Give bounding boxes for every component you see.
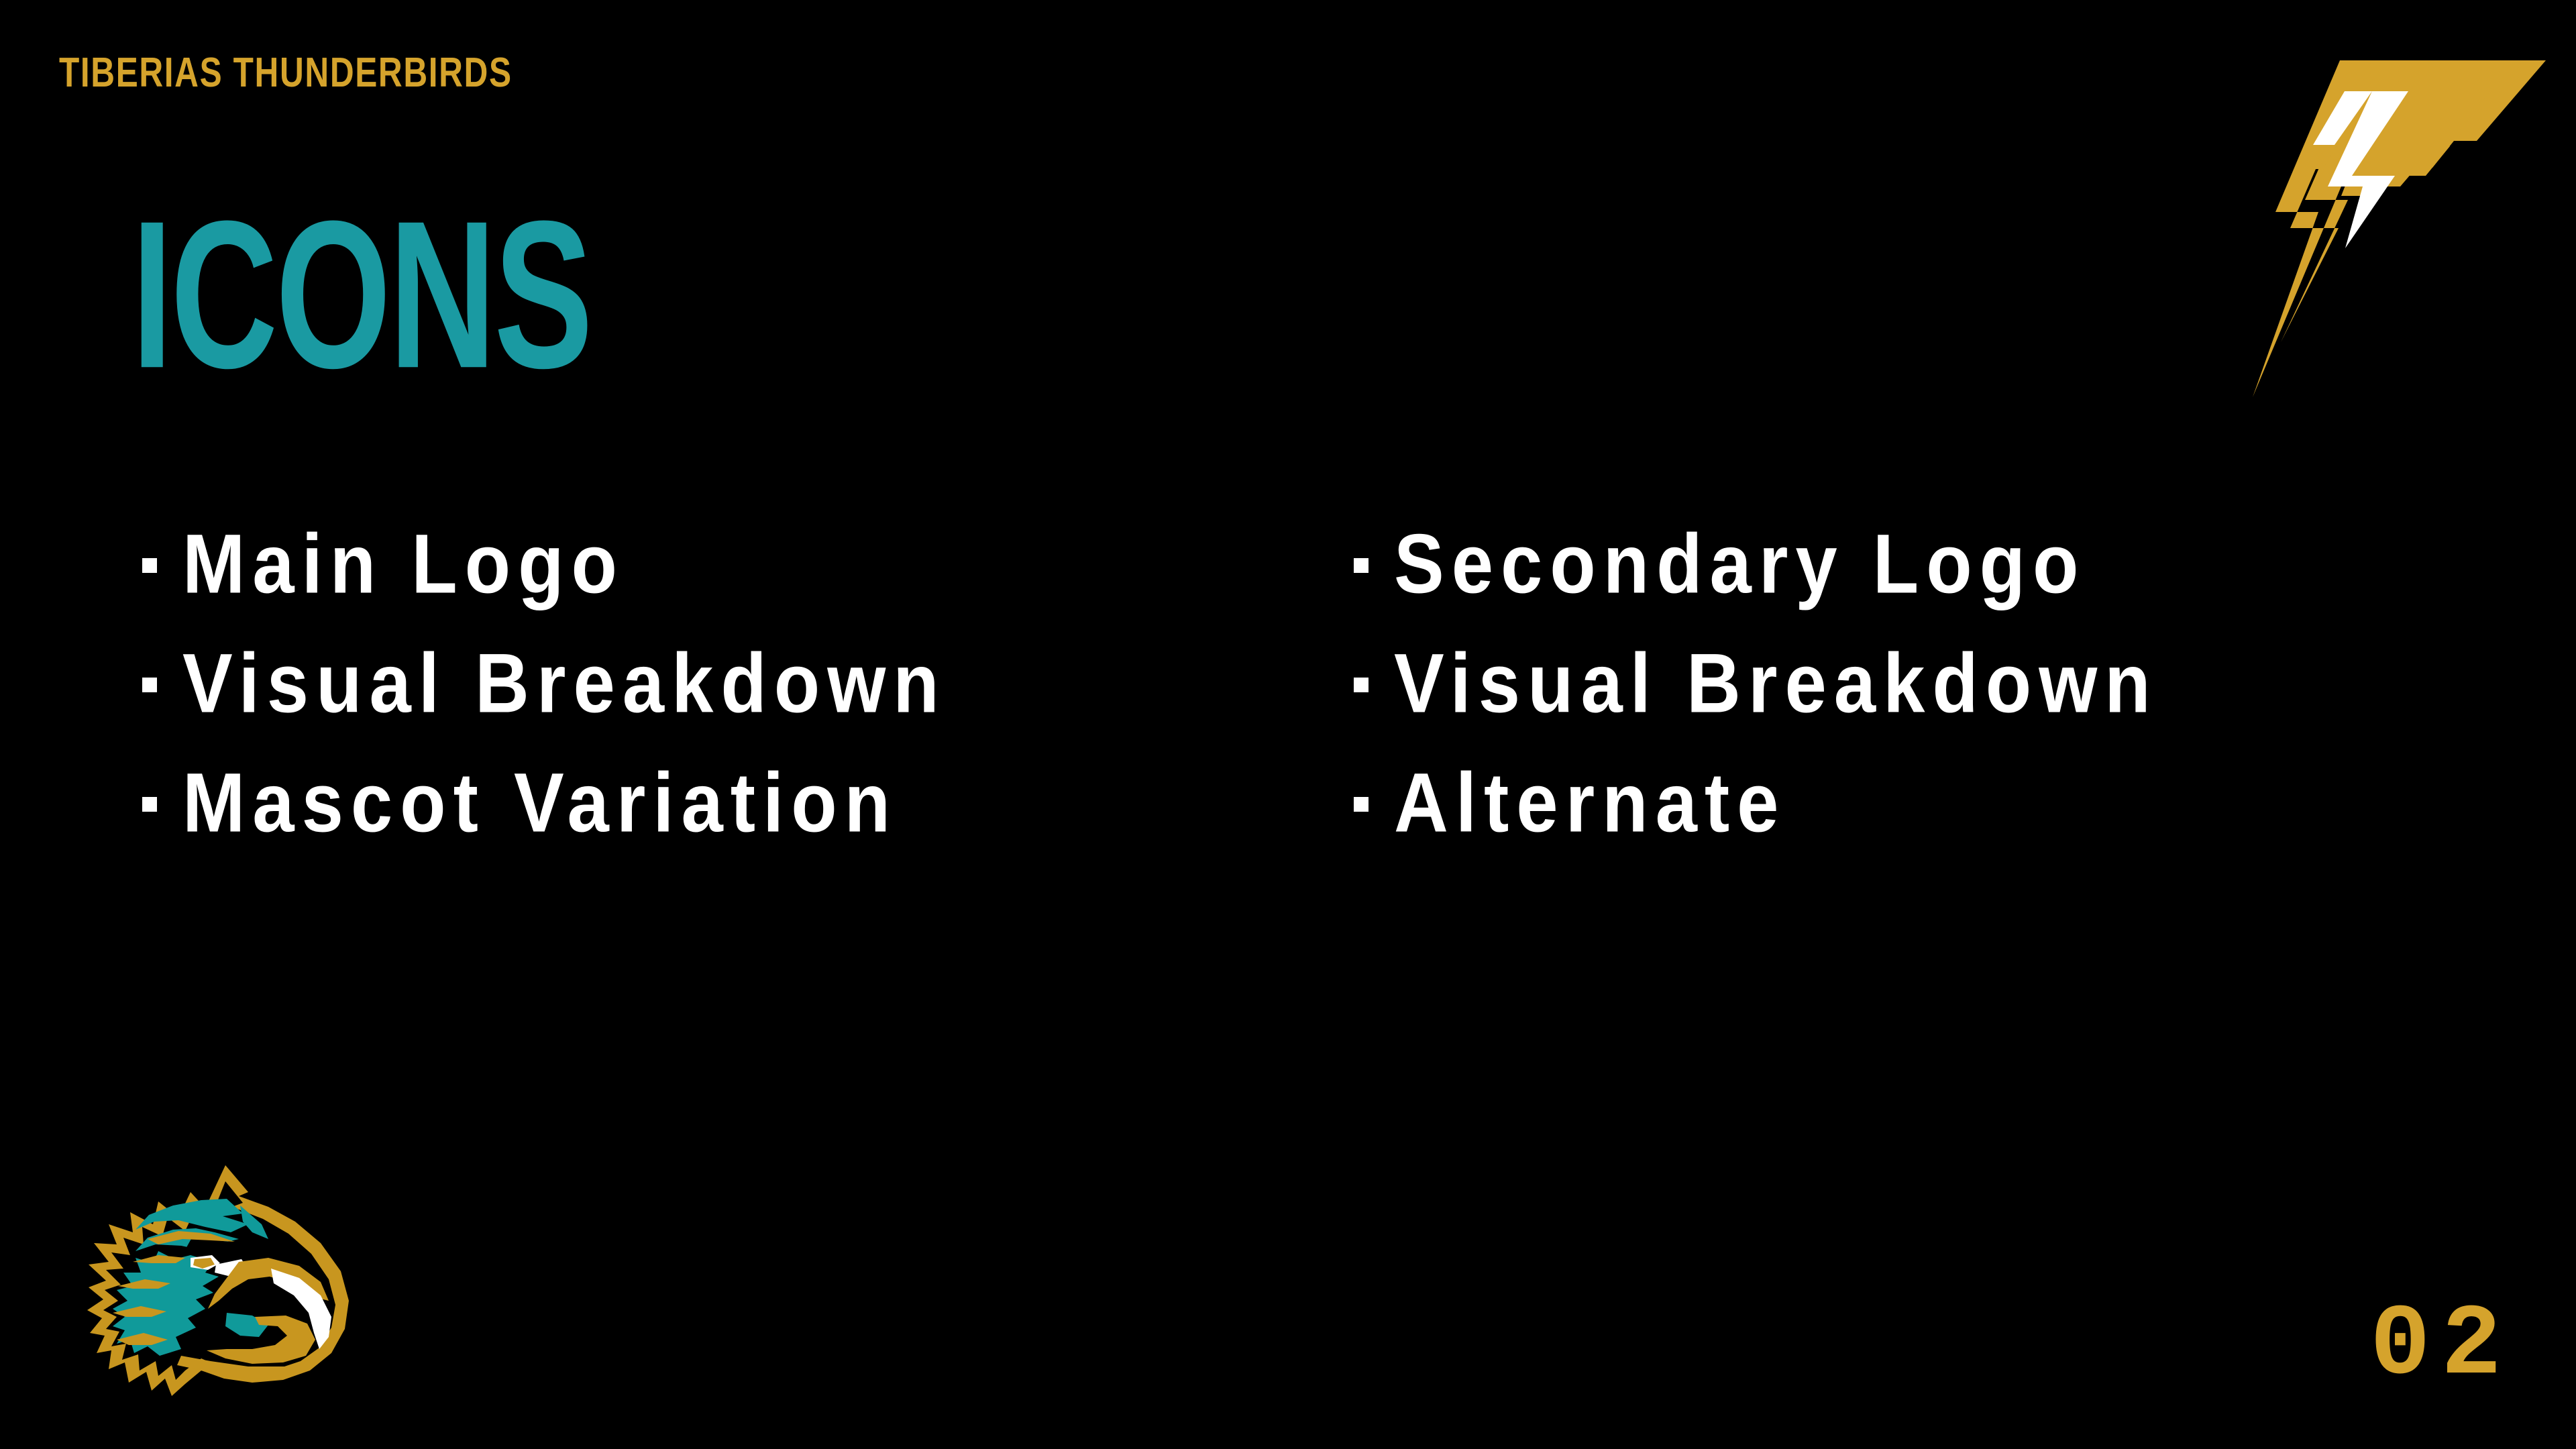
bullet-square-icon (1354, 797, 1368, 812)
list-item-label: Mascot Variation (182, 761, 898, 845)
list-item[interactable]: Visual Breakdown (1354, 624, 2158, 743)
list-item-label: Main Logo (182, 522, 625, 606)
brand-eyebrow: TIBERIAS THUNDERBIRDS (59, 52, 513, 94)
bullet-square-icon (1354, 558, 1368, 573)
list-item-label: Secondary Logo (1394, 522, 2086, 606)
list-item[interactable]: Main Logo (142, 504, 947, 624)
list-item[interactable]: Alternate (1354, 743, 2158, 863)
list-item[interactable]: Mascot Variation (142, 743, 947, 863)
page-title: ICONS (131, 196, 591, 396)
bullet-square-icon (1354, 678, 1368, 692)
bullet-square-icon (142, 558, 157, 573)
thunderbolt-t-logo-icon (2241, 27, 2549, 409)
list-item-label: Visual Breakdown (1394, 641, 2158, 725)
thunderbird-mascot-icon (47, 1157, 402, 1412)
page-number: 02 (2370, 1296, 2512, 1397)
bullet-column-right: Secondary Logo Visual Breakdown Alternat… (1354, 504, 2158, 863)
list-item[interactable]: Visual Breakdown (142, 624, 947, 743)
list-item[interactable]: Secondary Logo (1354, 504, 2158, 624)
bullet-square-icon (142, 678, 157, 692)
list-item-label: Visual Breakdown (182, 641, 947, 725)
list-item-label: Alternate (1394, 761, 1786, 845)
bullet-columns: Main Logo Visual Breakdown Mascot Variat… (0, 504, 2576, 920)
slide-canvas: TIBERIAS THUNDERBIRDS ICONS Main Logo Vi… (0, 0, 2576, 1449)
bullet-square-icon (142, 797, 157, 812)
bullet-column-left: Main Logo Visual Breakdown Mascot Variat… (142, 504, 947, 863)
